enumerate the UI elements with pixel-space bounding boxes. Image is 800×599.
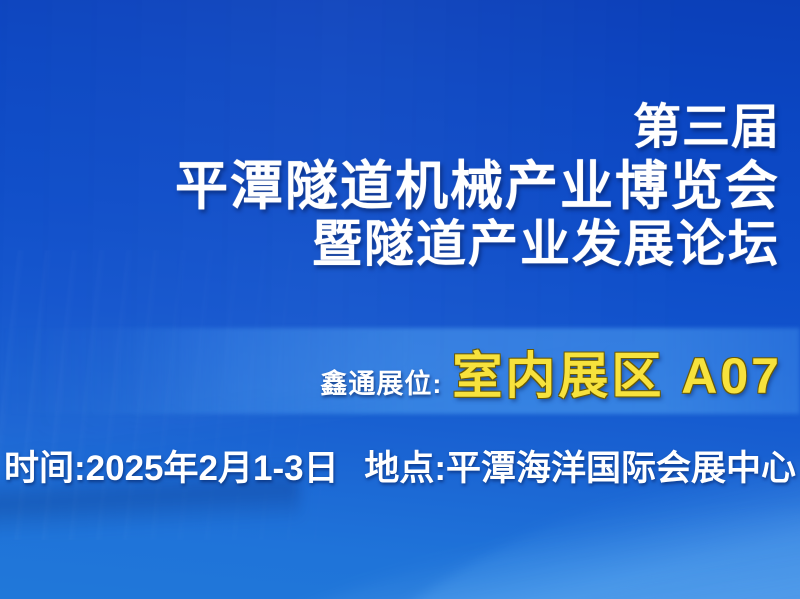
title-line-edition: 第三届 [175, 104, 780, 152]
booth-label: 鑫通展位: [320, 362, 442, 401]
booth-number: 室内展区 A07 [452, 336, 782, 408]
title-line-main: 平潭隧道机械产业博览会 [175, 160, 780, 213]
event-title: 第三届 平潭隧道机械产业博览会 暨隧道产业发展论坛 [175, 104, 780, 269]
event-details: 时间:2025年2月1-3日 地点:平潭海洋国际会展中心 [4, 440, 796, 491]
title-line-sub: 暨隧道产业发展论坛 [175, 219, 780, 269]
booth-info: 鑫通展位: 室内展区 A07 [320, 336, 782, 408]
event-date: 时间:2025年2月1-3日 [4, 440, 339, 491]
event-venue: 地点:平潭海洋国际会展中心 [364, 440, 796, 491]
banner-content: 第三届 平潭隧道机械产业博览会 暨隧道产业发展论坛 鑫通展位: 室内展区 A07… [0, 0, 800, 599]
exhibition-banner: 第三届 平潭隧道机械产业博览会 暨隧道产业发展论坛 鑫通展位: 室内展区 A07… [0, 0, 800, 599]
